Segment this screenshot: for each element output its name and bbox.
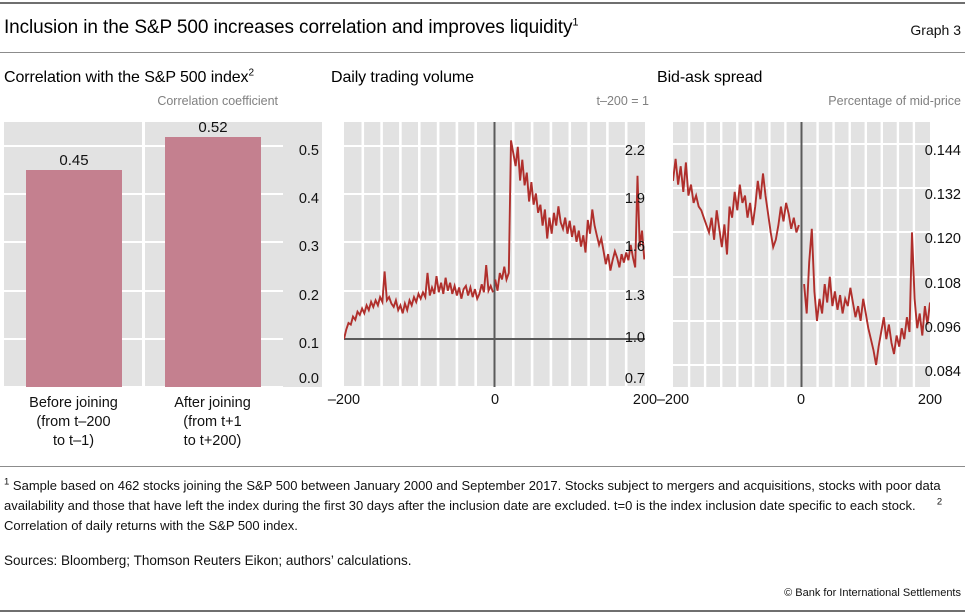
- footnote-divider-rule: [0, 466, 965, 467]
- ytick-spread-3: 0.108: [878, 277, 961, 291]
- page-title-footnote-marker: 1: [572, 17, 578, 29]
- xtick-volume-0: –200: [319, 392, 369, 408]
- bottom-rule: [0, 610, 965, 612]
- ytick-correlation-0: 0.5: [283, 144, 319, 158]
- bar-before-joining: [26, 170, 122, 387]
- panel-spread-svg: [673, 122, 930, 387]
- panel-correlation-footnote-marker: 2: [248, 68, 253, 79]
- category-before-line3: to t–1): [4, 432, 143, 451]
- ytick-volume-3: 1.3: [602, 289, 645, 303]
- ytick-correlation-1: 0.4: [283, 192, 319, 206]
- bis-graph-page: Inclusion in the S&P 500 increases corre…: [0, 0, 965, 615]
- footnotes-block: 1 Sample based on 462 stocks joining the…: [4, 476, 961, 536]
- category-before-line2: (from t–200: [4, 413, 143, 432]
- xtick-spread-1: 0: [776, 392, 826, 408]
- ytick-spread-2: 0.120: [878, 232, 961, 246]
- footnote-marker-1: 1: [4, 477, 9, 488]
- ytick-volume-5: 0.7: [602, 372, 645, 386]
- panel-correlation-unit: Correlation coefficient: [157, 94, 278, 108]
- ytick-spread-5: 0.084: [878, 365, 961, 379]
- category-label-after-joining: After joining (from t+1 to t+200): [143, 394, 282, 451]
- ytick-correlation-4: 0.1: [283, 337, 319, 351]
- ytick-volume-2: 1.6: [602, 240, 645, 254]
- category-after-line1: After joining: [143, 394, 282, 413]
- footnote-text-2: Correlation of daily returns with the S&…: [4, 518, 298, 533]
- ytick-spread-4: 0.096: [878, 321, 961, 335]
- ytick-volume-4: 1.0: [602, 331, 645, 345]
- page-title: Inclusion in the S&P 500 increases corre…: [4, 16, 578, 40]
- ytick-volume-1: 1.9: [602, 192, 645, 206]
- title-divider-rule: [0, 52, 965, 53]
- spread-series-post: [804, 229, 930, 365]
- footnote-marker-2: 2: [937, 497, 942, 508]
- panel-spread-plot: [673, 122, 930, 387]
- ytick-volume-0: 2.2: [602, 144, 645, 158]
- category-after-line2: (from t+1: [143, 413, 282, 432]
- ytick-spread-1: 0.132: [878, 188, 961, 202]
- footnote-text-1: Sample based on 462 stocks joining the S…: [4, 478, 941, 513]
- ytick-spread-0: 0.144: [878, 144, 961, 158]
- panel-volume-plot: [344, 122, 645, 387]
- panel-volume-unit: t–200 = 1: [597, 94, 649, 108]
- bar-label-before-joining: 0.45: [26, 152, 122, 169]
- panel-correlation-title-text: Correlation with the S&P 500 index: [4, 69, 248, 86]
- ytick-correlation-5: 0.0: [283, 372, 319, 386]
- spread-series-pre: [673, 159, 799, 255]
- bar-after-joining: [165, 137, 261, 387]
- xtick-spread-2: 200: [905, 392, 955, 408]
- category-label-before-joining: Before joining (from t–200 to t–1): [4, 394, 143, 451]
- sources-line: Sources: Bloomberg; Thomson Reuters Eiko…: [4, 553, 411, 568]
- category-before-line1: Before joining: [4, 394, 143, 413]
- bar-label-after-joining: 0.52: [165, 119, 261, 136]
- category-after-line3: to t+200): [143, 432, 282, 451]
- ytick-correlation-3: 0.2: [283, 289, 319, 303]
- copyright-line: © Bank for International Settlements: [784, 587, 961, 599]
- page-title-text: Inclusion in the S&P 500 increases corre…: [4, 17, 572, 38]
- graph-number: Graph 3: [910, 22, 961, 38]
- panel-volume-title: Daily trading volume: [331, 68, 474, 88]
- xtick-spread-0: –200: [648, 392, 698, 408]
- xtick-volume-1: 0: [470, 392, 520, 408]
- panel-spread-unit: Percentage of mid-price: [828, 94, 961, 108]
- top-rule: [0, 2, 965, 4]
- ytick-correlation-2: 0.3: [283, 240, 319, 254]
- panel-spread-title: Bid-ask spread: [657, 68, 762, 88]
- panel-correlation-title: Correlation with the S&P 500 index2: [4, 68, 254, 88]
- panel-volume-svg: [344, 122, 645, 387]
